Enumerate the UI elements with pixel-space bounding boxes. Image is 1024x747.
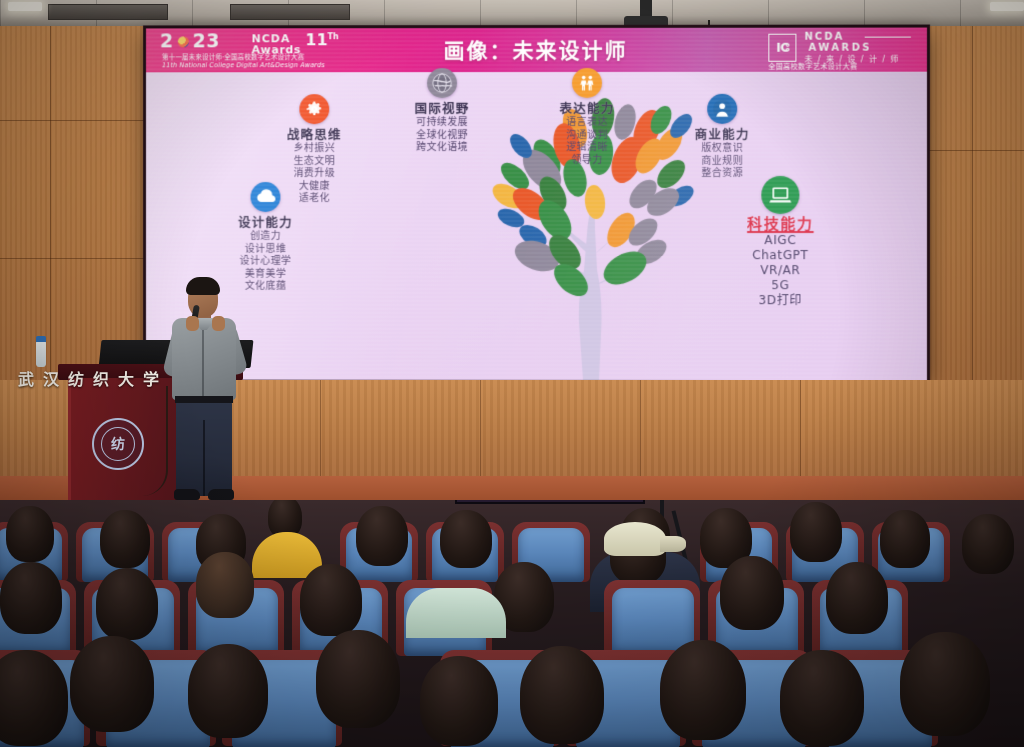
- cluster-item: VR/AR: [705, 263, 855, 278]
- audience-head: [962, 514, 1014, 574]
- right-logo-subtitle: 全国高校数字艺术设计大赛: [768, 62, 857, 72]
- cluster-item: 可持续发展: [377, 117, 507, 130]
- cluster-item: 设计思维: [196, 243, 335, 256]
- cluster-item: 消费升级: [250, 168, 380, 181]
- ceiling-light: [8, 2, 42, 11]
- speaker-shoe-right: [208, 489, 234, 500]
- audience-head: [440, 510, 492, 568]
- confidence-monitor: [455, 500, 645, 504]
- audience-head: [790, 502, 842, 562]
- auditorium-scene: 223 NCDA Awards 11Th 第十一届未来设计师·全国高校数字艺术设…: [0, 0, 1024, 747]
- cluster-item: 商业规则: [657, 155, 787, 168]
- cluster-item: 沟通谈判: [527, 129, 647, 142]
- cluster-technology: 科技能力 AIGC ChatGPT VR/AR 5G 3D打印: [705, 176, 855, 308]
- business-person-icon: [707, 94, 737, 124]
- university-emblem: 纺: [92, 418, 144, 470]
- audience-head: [720, 556, 784, 630]
- audience-head: [316, 630, 400, 728]
- cluster-item: 5G: [705, 278, 855, 293]
- laptop-icon: [761, 176, 799, 214]
- water-bottle-cap: [36, 336, 46, 342]
- audience-head: [196, 552, 254, 618]
- cluster-item: AIGC: [705, 233, 855, 248]
- audience-head: [96, 568, 158, 640]
- gear-icon: [299, 94, 329, 124]
- speaker-shoe-left: [174, 489, 200, 500]
- right-logo-ncda: NCDA: [804, 32, 844, 43]
- speaker-shirt-placket: [202, 326, 204, 398]
- audience-head: [826, 562, 888, 634]
- audience-head: [900, 632, 990, 736]
- speaker-hair: [186, 277, 220, 295]
- ceiling-vent: [48, 4, 168, 20]
- cluster-item: 美育美学: [196, 268, 335, 281]
- cluster-item: 3D打印: [705, 293, 855, 308]
- cloud-icon: [251, 182, 281, 212]
- speaker-right-hand: [212, 316, 225, 331]
- water-bottle: [36, 341, 46, 367]
- globe-icon: [427, 68, 457, 98]
- audience-head: [660, 640, 746, 740]
- cluster-business: 商业能力 版权意识 商业规则 整合资源: [657, 94, 787, 181]
- cluster-item: 生态文明: [250, 156, 380, 169]
- audience-head: [520, 646, 604, 744]
- cluster-title: 表达能力: [527, 101, 647, 116]
- ceiling-light: [990, 2, 1024, 11]
- speaker-leg-split: [203, 420, 205, 496]
- podium-cable: [142, 386, 168, 496]
- cluster-item: 设计心理学: [196, 256, 335, 269]
- audience-head: [420, 656, 498, 746]
- right-logo-awards: AWARDS: [808, 43, 871, 54]
- audience-head: [300, 564, 362, 636]
- cluster-item: 领导力: [527, 154, 647, 167]
- projection-screen: 223 NCDA Awards 11Th 第十一届未来设计师·全国高校数字艺术设…: [146, 28, 927, 381]
- ncda-mark-icon: ⵏⵛ: [768, 34, 796, 62]
- speaker-torso: [172, 318, 236, 400]
- right-logo-rule: [865, 37, 911, 38]
- cluster-item: 创造力: [196, 231, 335, 244]
- audience-head: [188, 644, 268, 738]
- cluster-title: 设计能力: [196, 215, 335, 230]
- audience-head: [880, 510, 930, 568]
- wall-seam: [0, 120, 150, 121]
- speaker-belt: [175, 396, 233, 403]
- people-icon: [572, 68, 602, 98]
- audience-area: [0, 500, 1024, 747]
- cluster-item: 逻辑清晰: [527, 142, 647, 155]
- audience-head: [780, 650, 864, 746]
- speaker-left-hand: [186, 316, 199, 331]
- slide-content: 战略思维 乡村振兴 生态文明 消费升级 大健康 适老化 国际视野: [146, 72, 927, 381]
- cluster-title: 商业能力: [657, 127, 787, 142]
- cluster-title: 国际视野: [377, 101, 507, 116]
- cluster-expression: 表达能力 语言表达 沟通谈判 逻辑清晰 领导力: [527, 68, 647, 167]
- cluster-item: 乡村振兴: [250, 143, 380, 156]
- audience-head: [100, 510, 150, 568]
- cluster-item: 跨文化语境: [377, 142, 507, 155]
- baseball-cap: [604, 522, 666, 556]
- cluster-item: 语言表达: [527, 117, 647, 130]
- cap-brim: [660, 536, 686, 552]
- audience-head: [6, 506, 54, 562]
- cluster-design: 设计能力 创造力 设计思维 设计心理学 美育美学 文化底蕴: [196, 182, 335, 293]
- cluster-title: 科技能力: [705, 217, 855, 232]
- cluster-item: 全球化视野: [377, 130, 507, 143]
- audience-shoulders: [406, 588, 506, 638]
- ceiling-vent: [230, 4, 350, 20]
- emblem-inner-text: 纺: [101, 427, 135, 461]
- ncda-right-logo: ⵏⵛ NCDA AWARDS 未 / 来 / 设 / 计 / 师 全国高校数字艺…: [766, 31, 917, 69]
- audience-head: [0, 562, 62, 634]
- cluster-item: ChatGPT: [705, 248, 855, 263]
- slide-banner: 223 NCDA Awards 11Th 第十一届未来设计师·全国高校数字艺术设…: [146, 28, 927, 73]
- audience-head: [70, 636, 154, 732]
- audience-head: [356, 506, 408, 566]
- cluster-title: 战略思维: [250, 127, 380, 142]
- cluster-item: 版权意识: [657, 143, 787, 156]
- cluster-global-vision: 国际视野 可持续发展 全球化视野 跨文化语境: [377, 68, 507, 155]
- wall-seam: [0, 258, 150, 259]
